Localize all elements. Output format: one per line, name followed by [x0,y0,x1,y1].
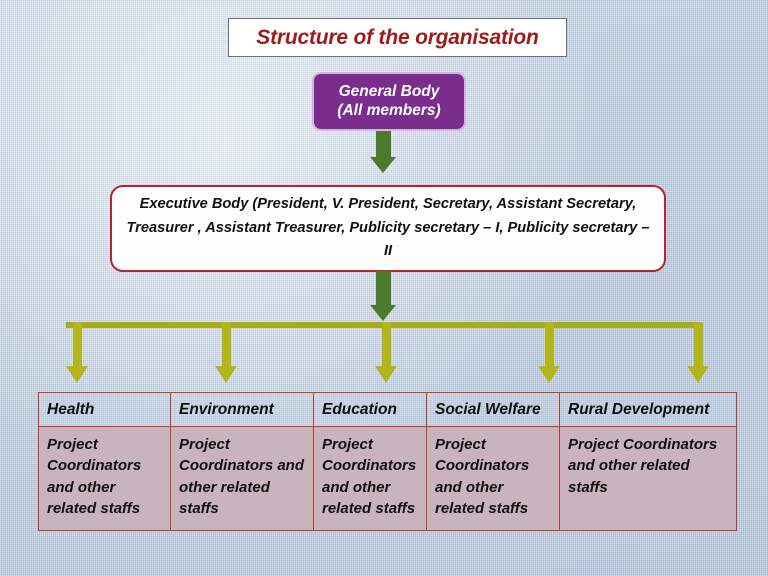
staff-description-social-welfare: Project Coordinators and other related s… [435,436,529,517]
table-header-row: Health Environment Education Social Welf… [39,393,737,427]
arrow-head [215,366,237,383]
general-body-line-1: General Body [339,83,440,101]
arrow-shaft [73,322,82,368]
arrow-shaft [382,322,391,368]
department-name-social-welfare: Social Welfare [435,401,541,418]
table-header-cell-health: Health [39,393,171,427]
organisation-chart-slide: Structure of the organisation General Bo… [0,0,768,576]
table-cell-staff-rural-development: Project Coordinators and other related s… [560,427,737,531]
arrow-head [66,366,88,383]
table-row: Project Coordinators and other related s… [39,427,737,531]
node-general-body: General Body (All members) [312,72,466,131]
arrow-shaft [694,322,703,368]
arrow-shaft [222,322,231,368]
down-arrow-icon-general-to-executive-head [370,157,396,173]
arrow-shaft [545,322,554,368]
staff-description-education: Project Coordinators and other related s… [322,436,416,517]
arrow-head [687,366,709,383]
staff-description-environment: Project Coordinators and other related s… [179,436,304,517]
arrow-head [375,366,397,383]
department-name-rural-development: Rural Development [568,401,709,418]
arrow-head [538,366,560,383]
staff-description-health: Project Coordinators and other related s… [47,436,141,517]
down-arrow-icon-executive-to-departments-head [370,305,396,321]
table-cell-staff-education: Project Coordinators and other related s… [314,427,427,531]
down-arrow-icon-executive-to-departments-shaft [376,271,391,307]
departments-table: Health Environment Education Social Welf… [38,392,737,531]
down-arrow-icon-general-to-executive-shaft [376,131,391,159]
page-title: Structure of the organisation [256,26,538,50]
table-cell-staff-environment: Project Coordinators and other related s… [171,427,314,531]
table-header-cell-rural-development: Rural Development [560,393,737,427]
executive-body-label: Executive Body (President, V. President,… [126,193,650,264]
department-name-environment: Environment [179,401,274,418]
department-name-education: Education [322,401,397,418]
table-header-cell-environment: Environment [171,393,314,427]
node-executive-body: Executive Body (President, V. President,… [110,185,666,272]
department-name-health: Health [47,401,94,418]
table-header-cell-social-welfare: Social Welfare [427,393,560,427]
table-cell-staff-social-welfare: Project Coordinators and other related s… [427,427,560,531]
staff-description-rural-development: Project Coordinators and other related s… [568,436,717,496]
table-header-cell-education: Education [314,393,427,427]
table-cell-staff-health: Project Coordinators and other related s… [39,427,171,531]
slide-title-box: Structure of the organisation [228,18,567,57]
general-body-line-2: (All members) [337,102,440,120]
